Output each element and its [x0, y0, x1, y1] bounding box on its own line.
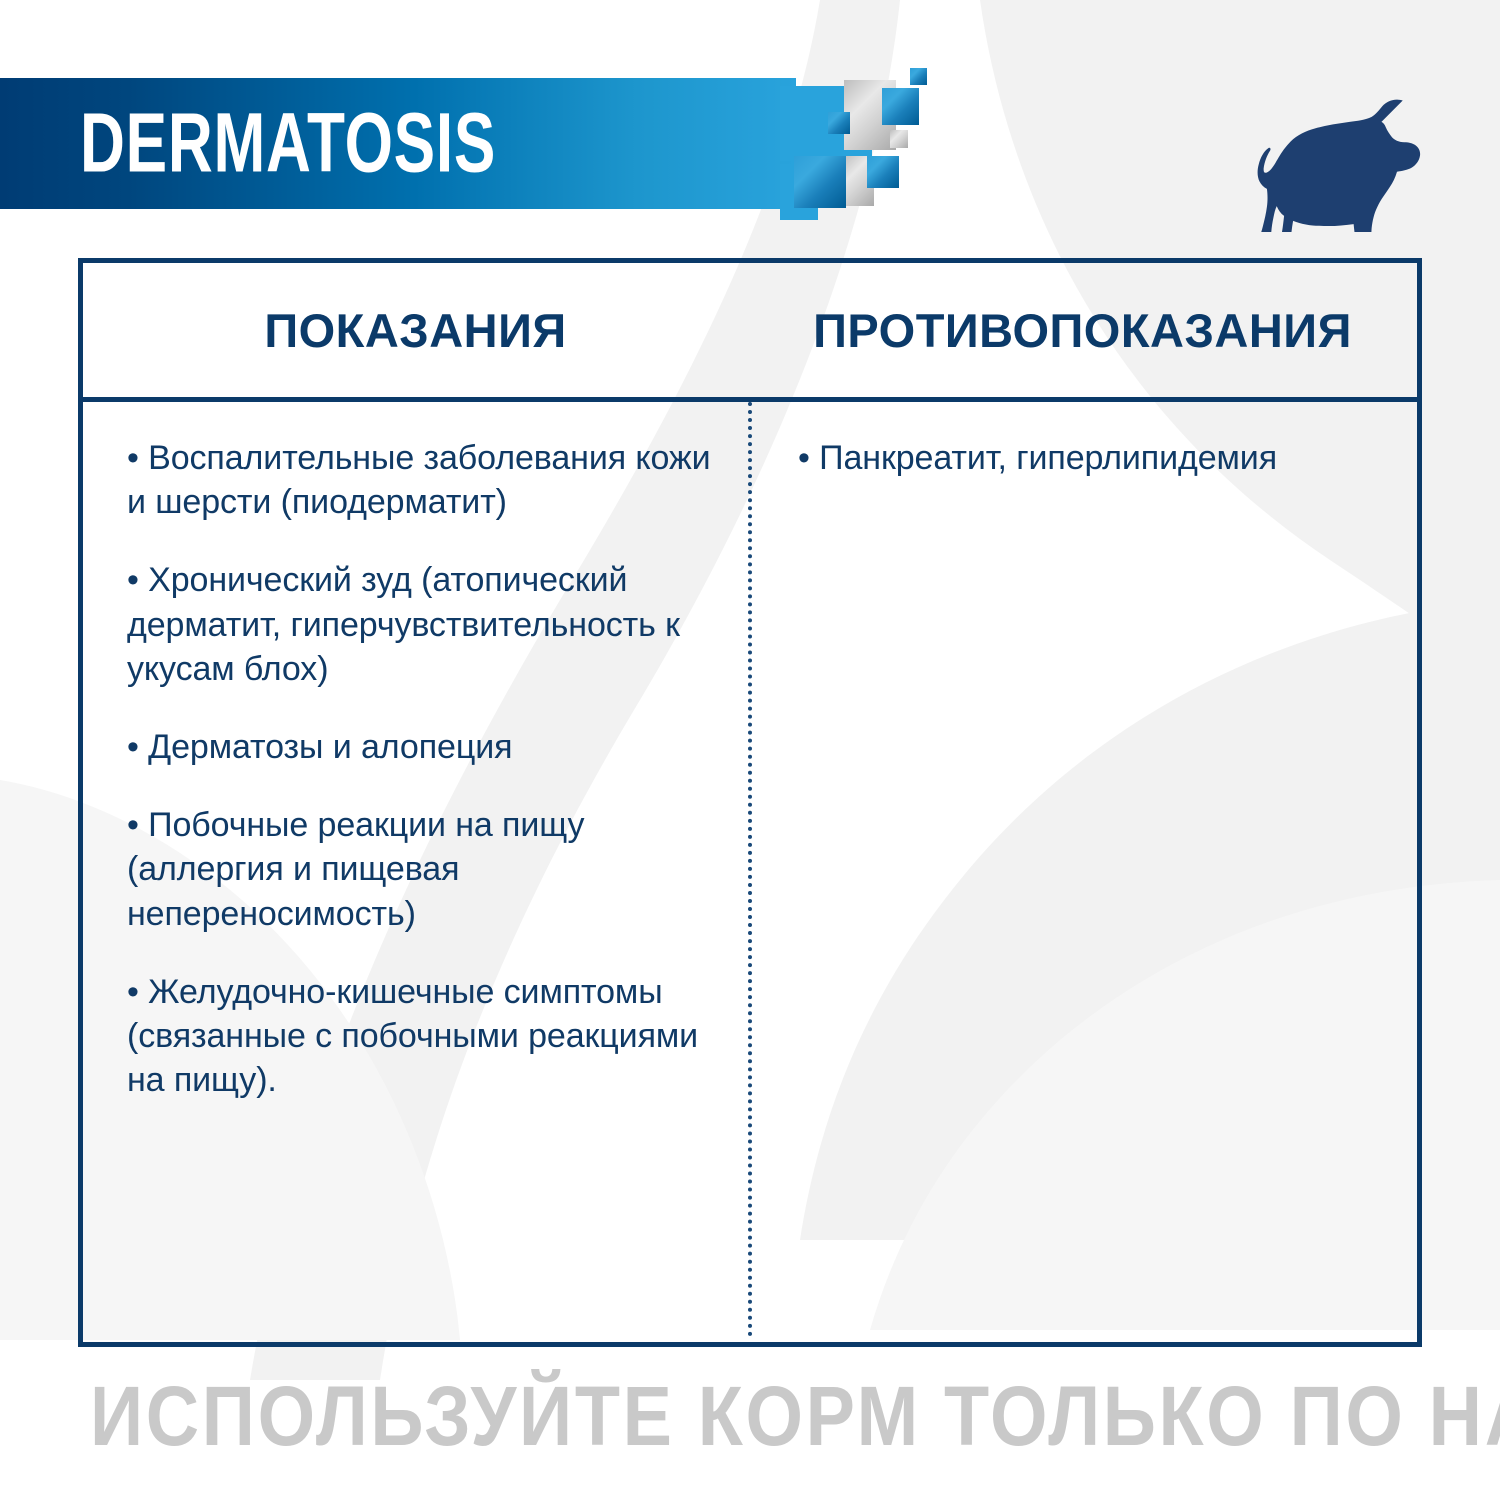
- footer-slogan: ИСПОЛЬЗУЙТЕ КОРМ ТОЛЬКО ПО НАЗНАЧЕНИЮ ВР…: [90, 1368, 1410, 1465]
- deco-square-blue-large-bottom: [794, 156, 846, 208]
- page-title: DERMATOSIS: [80, 100, 496, 184]
- list-item: • Побочные реакции на пищу (аллергия и п…: [127, 803, 722, 936]
- table-body: • Воспалительные заболевания кожи и шерс…: [83, 402, 1417, 1337]
- column-divider: [748, 402, 752, 1337]
- column-header-contraindications: ПРОТИВОПОКАЗАНИЯ: [748, 303, 1417, 358]
- decorative-squares-group: [780, 60, 970, 235]
- list-item: • Хронический зуд (атопический дерматит,…: [127, 558, 722, 691]
- indications-table: ПОКАЗАНИЯ ПРОТИВОПОКАЗАНИЯ • Воспалитель…: [78, 258, 1422, 1347]
- header-banner: DERMATOSIS: [0, 78, 796, 209]
- list-item: • Дерматозы и алопеция: [127, 725, 722, 769]
- dog-icon: [1253, 82, 1433, 232]
- deco-square-gray-small: [890, 130, 908, 148]
- deco-square-blue-tiny-top: [910, 68, 927, 85]
- indications-column: • Воспалительные заболевания кожи и шерс…: [83, 402, 748, 1337]
- list-item: • Желудочно-кишечные симптомы (связанные…: [127, 970, 722, 1103]
- list-item: • Панкреатит, гиперлипидемия: [798, 436, 1391, 480]
- column-header-indications: ПОКАЗАНИЯ: [83, 303, 748, 358]
- list-item: • Воспалительные заболевания кожи и шерс…: [127, 436, 722, 524]
- deco-square-blue-medium-bottom: [867, 156, 899, 188]
- table-header-row: ПОКАЗАНИЯ ПРОТИВОПОКАЗАНИЯ: [83, 263, 1417, 402]
- deco-square-blue-small-mid: [828, 112, 850, 134]
- deco-square-blue-medium-top: [882, 88, 919, 125]
- contraindications-column: • Панкреатит, гиперлипидемия: [748, 402, 1417, 1337]
